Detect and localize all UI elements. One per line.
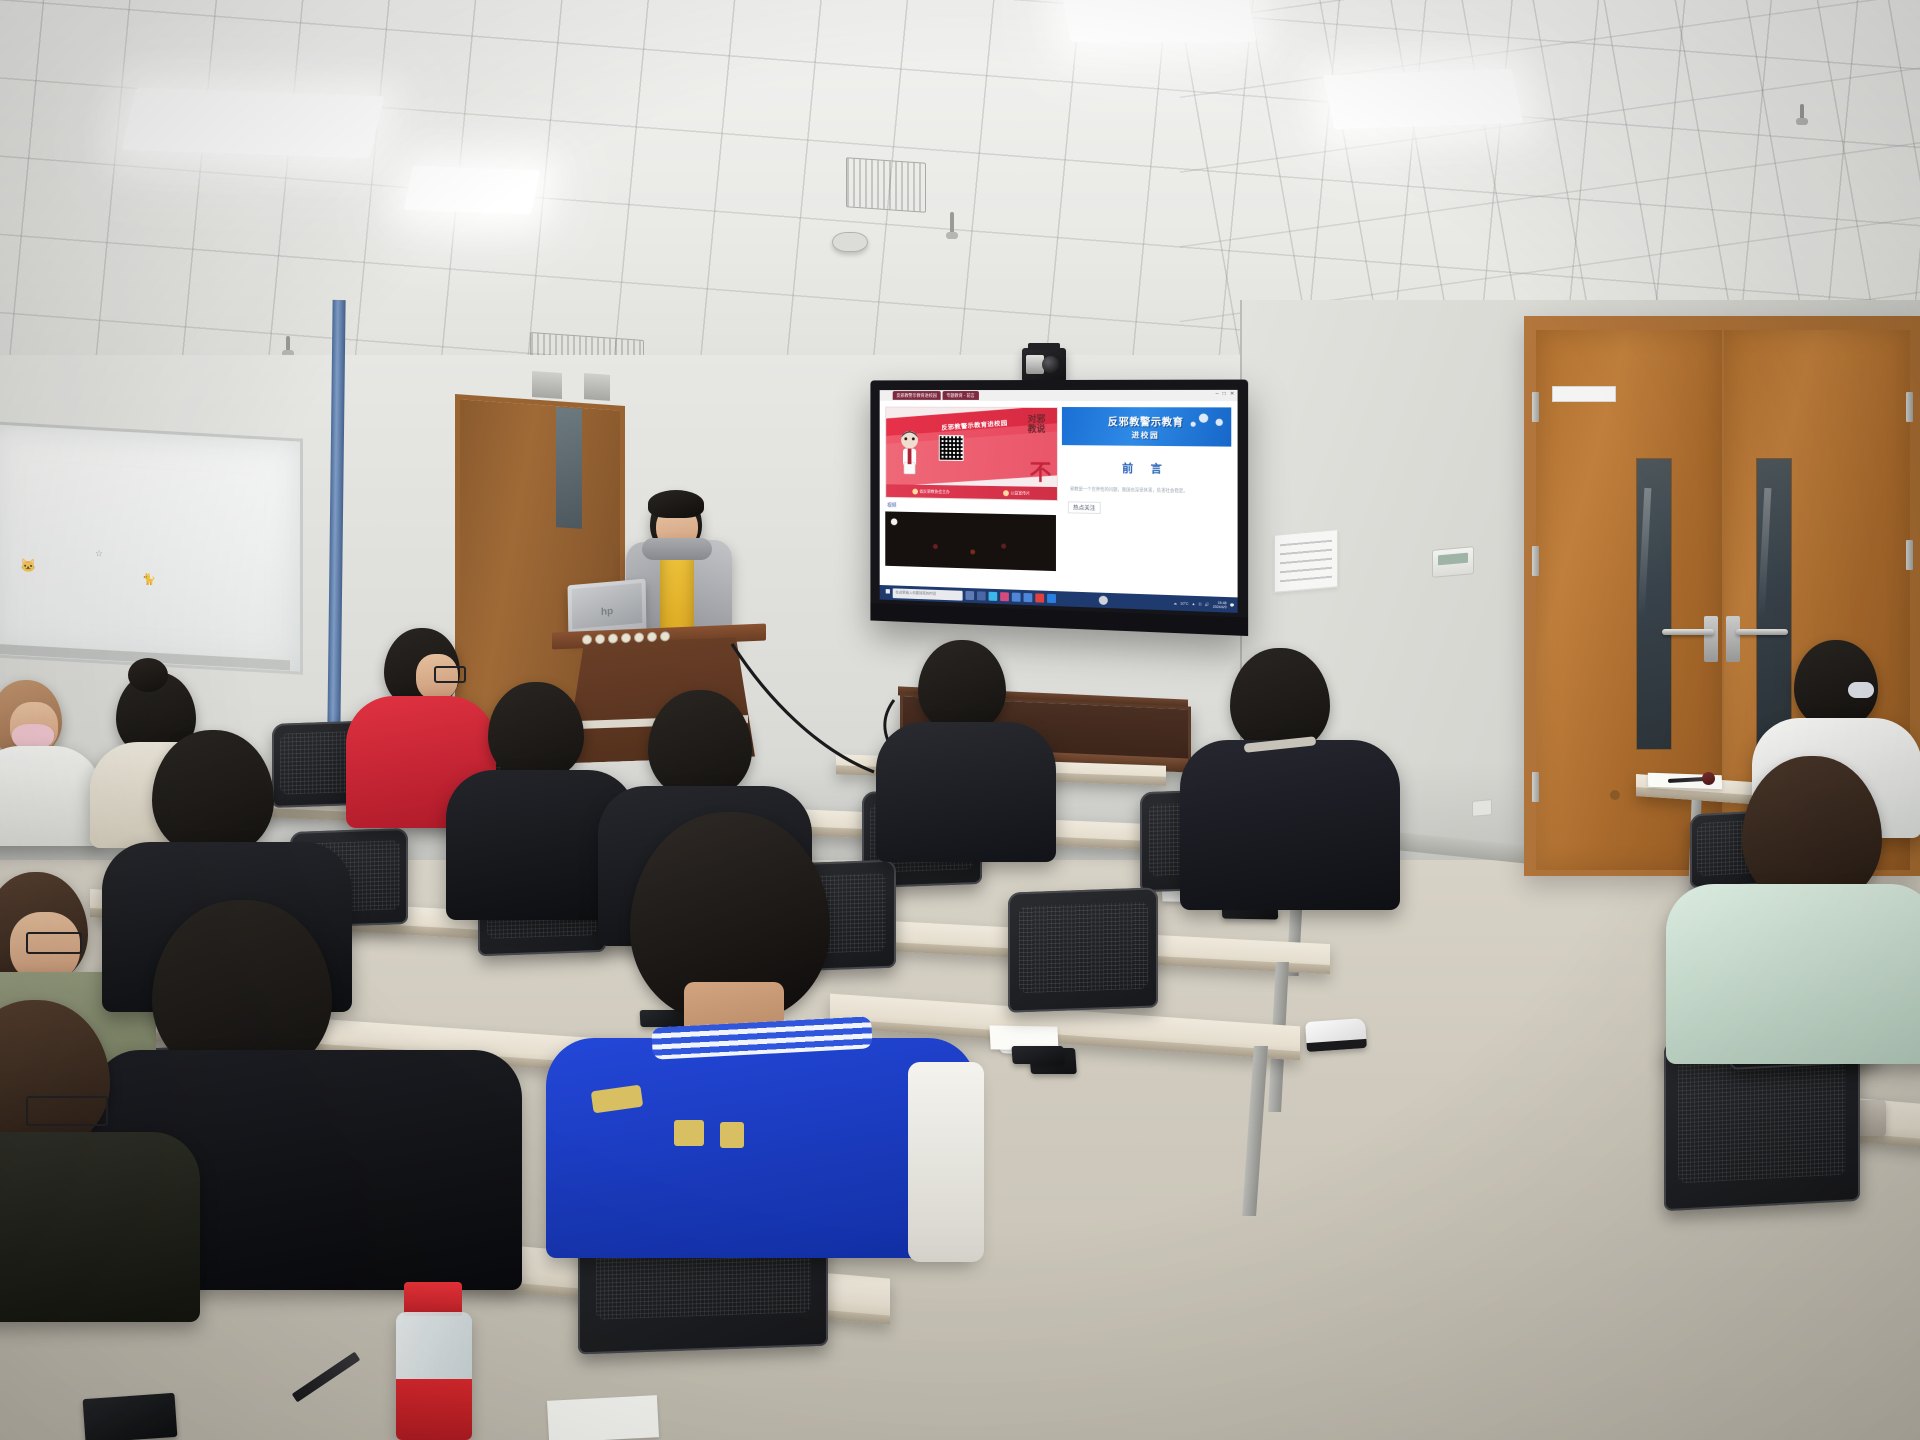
door-stop-icon <box>1610 790 1620 800</box>
laptop-brand-logo: hp <box>601 606 613 618</box>
slide-section-title: 前 言 <box>1062 459 1231 477</box>
slide-video-caption: 视频 <box>887 502 1056 512</box>
student-s5-glasses-icon <box>434 666 466 683</box>
door-handle-right[interactable] <box>1736 629 1788 635</box>
student-s14-body <box>0 1132 200 1322</box>
slide-subhead: 热点关注 <box>1068 501 1100 514</box>
air-vent-icon <box>846 157 926 213</box>
whiteboard: 🐱 🐈 ☆ <box>0 421 303 674</box>
thermostat[interactable] <box>1432 546 1474 578</box>
app-icon-2[interactable] <box>1012 593 1021 602</box>
door-lockplate-left <box>1704 616 1718 662</box>
app-icon-5[interactable] <box>1047 594 1056 603</box>
ceiling-light-2 <box>404 166 540 214</box>
door-hinge-bot-left <box>1532 772 1539 802</box>
presenter-hair <box>648 490 704 518</box>
minimize-icon[interactable]: – <box>1216 391 1219 397</box>
podium-button-5[interactable] <box>634 632 644 642</box>
door-hinge-mid-left <box>1532 546 1539 576</box>
start-button-icon[interactable] <box>882 588 889 596</box>
podium-button-1[interactable] <box>582 634 592 644</box>
student-s6-head <box>488 682 584 780</box>
blue-banner-line1: 反邪教警示教育 <box>1108 413 1184 429</box>
app-icon-4[interactable] <box>1035 593 1044 602</box>
poster-footer-left-group: 省反邪教协会主办 <box>912 488 950 495</box>
app-icon-6[interactable] <box>1099 596 1108 605</box>
student-s12 <box>1680 756 1920 1046</box>
student-s2-hair-bun <box>128 658 168 692</box>
maximize-icon[interactable]: □ <box>1223 391 1226 397</box>
close-icon[interactable]: ✕ <box>1230 391 1234 397</box>
smartphone <box>83 1393 178 1440</box>
student-s1-body <box>0 746 102 846</box>
student-s3-glasses-icon <box>26 932 82 954</box>
poster-footer-left-text: 省反邪教协会主办 <box>919 488 949 494</box>
notifications-icon[interactable]: 💬 <box>1230 603 1235 607</box>
app-icon-3[interactable] <box>1024 593 1033 602</box>
poster-qr-code-icon <box>939 435 964 461</box>
student-s8-sleeve-white <box>908 1062 984 1262</box>
tray-up-icon[interactable]: ▲ <box>1192 601 1196 605</box>
ceiling-mount-bracket <box>532 371 562 399</box>
student-s12-body <box>1666 884 1920 1064</box>
browser-tab-2-label: 专题教育 - 前言 <box>946 393 974 399</box>
taskview-icon[interactable] <box>965 591 974 600</box>
slide-body-text: 邪教是一个世界性的问题，我国也深受其害，危害社会稳定。 <box>1062 485 1231 495</box>
smoke-detector-icon <box>832 232 868 252</box>
student-s8-embroidery-2 <box>674 1120 704 1146</box>
taskbar-clock[interactable]: 15:48 2024/4/9 <box>1213 600 1227 609</box>
presenter-hood <box>642 538 712 560</box>
door-glass-reflection-right <box>1758 488 1772 619</box>
sneaker <box>1305 1018 1367 1052</box>
app-icon-1[interactable] <box>1000 592 1009 601</box>
student-s14-head <box>0 1000 110 1150</box>
blue-banner: 反邪教警示教育 进校园 <box>1062 407 1231 447</box>
paper-foreground <box>547 1395 659 1440</box>
anti-cult-poster: 反邪教警示教育进校园 对邪教说 不 <box>885 407 1058 501</box>
door-hinge-top-right <box>1906 392 1913 422</box>
door-glass-left <box>1636 458 1672 750</box>
student-s4-head <box>152 730 274 856</box>
taskbar-search-input[interactable]: 在这里输入你要搜索的内容 <box>893 588 963 600</box>
camera-mount <box>1028 343 1060 350</box>
ceiling-light-4 <box>1323 69 1523 130</box>
chair-8[interactable] <box>1008 887 1158 1012</box>
poster-footer-right-group: 公益宣传片 <box>1003 490 1030 496</box>
weather-icon[interactable]: ☁ <box>1173 601 1177 605</box>
banner-bubble-1-icon <box>1199 413 1208 422</box>
door-glass-reflection-left <box>1638 488 1652 619</box>
slide-right-column: 反邪教警示教育 进校园 前 言 邪教是一个世界性的问题，我国也深受其害，危害社会… <box>1060 401 1237 597</box>
volume-icon[interactable]: 🔊 <box>1205 602 1210 606</box>
door-sign <box>1552 386 1616 402</box>
door-handle-left[interactable] <box>1662 629 1714 635</box>
video-thumbnail[interactable] <box>885 511 1056 571</box>
wall-outlet <box>1472 799 1492 817</box>
door-hinge-mid-right <box>1906 540 1913 570</box>
student-s10-body <box>1180 740 1400 910</box>
poster-footer-right-text: 公益宣传片 <box>1011 490 1031 496</box>
podium-button-7[interactable] <box>660 631 670 641</box>
taskbar-search-placeholder: 在这里输入你要搜索的内容 <box>896 590 937 596</box>
student-s7-head <box>648 690 752 798</box>
clock-date: 2024/4/9 <box>1213 604 1227 609</box>
video-indicator-icon <box>891 518 898 525</box>
blue-banner-line2: 进校园 <box>1132 429 1160 440</box>
podium-button-3[interactable] <box>608 633 618 643</box>
cat-doodle-2-icon: 🐈 <box>142 573 156 587</box>
browser-tab-1[interactable]: 反邪教警示教育进校园 <box>893 391 941 400</box>
poster-footer: 省反邪教协会主办 公益宣传片 <box>886 484 1057 500</box>
display-screen[interactable]: 反邪教警示教育进校园 专题教育 - 前言 – □ ✕ 反邪教警示教育进校园 <box>880 390 1238 613</box>
network-icon[interactable]: ☷ <box>1198 602 1201 606</box>
door-lockplate-right <box>1726 616 1740 662</box>
student-s8 <box>556 812 976 1232</box>
notice-text-lines <box>1280 540 1332 583</box>
bottle-cap <box>404 1282 462 1316</box>
thermostat-display <box>1438 553 1468 566</box>
cat-doodle-1-icon: 🐱 <box>20 558 36 575</box>
door-hinge-top-left <box>1532 392 1539 422</box>
temperature-label: 10°C <box>1180 601 1188 605</box>
poster-vertical-text: 对邪教说 <box>1024 414 1050 434</box>
slide-content: 反邪教警示教育进校园 对邪教说 不 <box>880 401 1238 598</box>
poster-logo-2-icon <box>1003 490 1009 496</box>
window-controls[interactable]: – □ ✕ <box>1216 391 1235 397</box>
wall-notice <box>1274 529 1338 593</box>
poster-logo-1-icon <box>912 488 918 494</box>
small-sketch-icon: ☆ <box>95 548 103 559</box>
banner-bubble-2-icon <box>1216 419 1223 426</box>
sprinkler-head-2-icon <box>286 336 290 352</box>
ceiling-light-1 <box>121 88 384 159</box>
browser-tab-2[interactable]: 专题教育 - 前言 <box>943 391 979 400</box>
wall-camera-icon <box>1022 348 1066 382</box>
poster-big-character: 不 <box>1030 462 1052 484</box>
ceiling-mount-bracket-2 <box>584 373 610 401</box>
door-sign-text <box>1553 387 1615 393</box>
student-s11-hair-tie <box>1848 682 1874 698</box>
side-door-glass <box>556 407 582 529</box>
sprinkler-head-icon <box>950 212 954 234</box>
student-s14 <box>0 1000 190 1300</box>
student-s14-glasses-icon <box>26 1096 108 1126</box>
student-s9-head <box>918 640 1006 732</box>
water-bottle <box>396 1312 472 1440</box>
classroom-photo: 🐱 🐈 ☆ 反邪教警示教育进校园 专题教育 - 前言 <box>0 0 1920 1440</box>
explorer-icon[interactable] <box>977 591 986 600</box>
student-s9 <box>882 640 1042 830</box>
podium-button-6[interactable] <box>647 632 657 642</box>
bottle-label <box>396 1379 472 1440</box>
phone-on-desk-3b <box>1011 1046 1064 1064</box>
podium-button-4[interactable] <box>621 633 631 643</box>
banner-bubble-3-icon <box>1191 422 1196 427</box>
student-s8-embroidery-3 <box>720 1122 744 1148</box>
sprinkler-head-3-icon <box>1800 104 1804 120</box>
slide-left-column: 反邪教警示教育进校园 对邪教说 不 <box>880 401 1060 591</box>
interactive-display[interactable]: 反邪教警示教育进校园 专题教育 - 前言 – □ ✕ 反邪教警示教育进校园 <box>870 380 1248 637</box>
system-tray[interactable]: ☁ 10°C ▲ ☷ 🔊 15:48 2024/4/9 💬 <box>1173 599 1234 609</box>
poster-cartoon-icon <box>896 429 924 476</box>
ceiling-light-3 <box>1061 0 1256 42</box>
browser-icon[interactable] <box>989 592 998 601</box>
camera-lens <box>1042 356 1059 373</box>
podium-button-2[interactable] <box>595 634 605 644</box>
browser-tab-1-label: 反邪教警示教育进校园 <box>896 393 936 399</box>
student-s10-head <box>1230 648 1330 752</box>
student-s10 <box>1186 648 1386 878</box>
